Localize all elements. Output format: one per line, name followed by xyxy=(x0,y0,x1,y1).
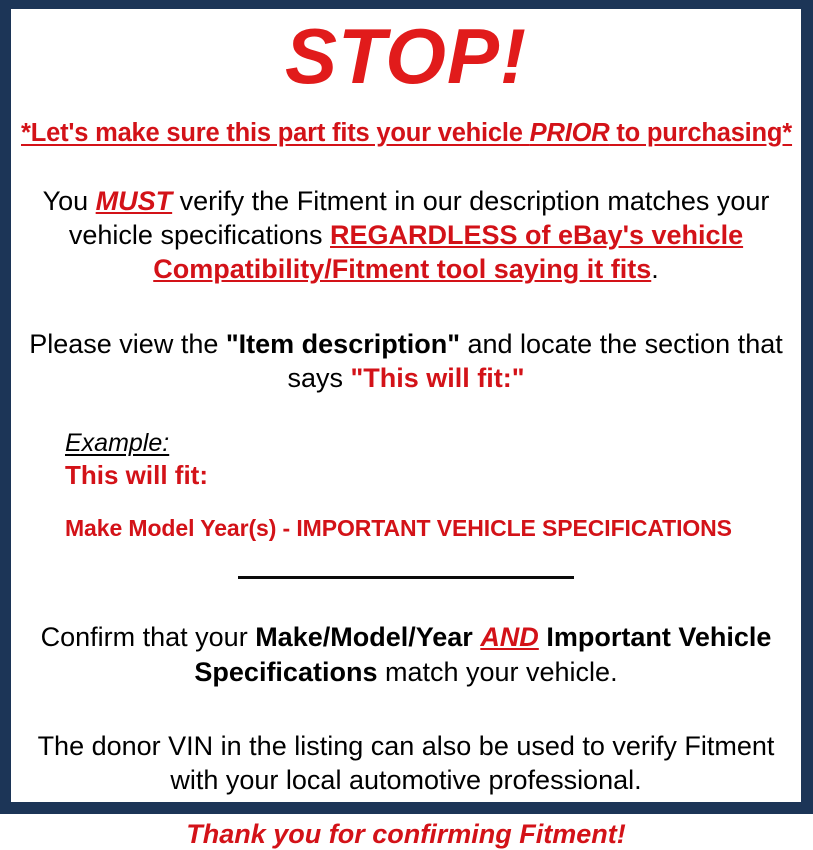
verify-part-1: You xyxy=(43,186,96,216)
view-emphasis-item-description: "Item description" xyxy=(226,329,460,359)
vin-paragraph: The donor VIN in the listing can also be… xyxy=(21,729,791,798)
confirm-emphasis-make-model-year: Make/Model/Year xyxy=(255,622,473,652)
example-label: Example: xyxy=(65,429,169,458)
confirm-emphasis-and: AND xyxy=(480,622,539,652)
example-fit-header: This will fit: xyxy=(65,460,791,491)
subheadline-emphasis-prior: PRIOR xyxy=(530,119,610,147)
confirm-part-1: Confirm that your xyxy=(41,622,256,652)
view-paragraph: Please view the "Item description" and l… xyxy=(21,327,791,396)
horizontal-rule-icon xyxy=(238,576,574,579)
subheadline-part-1: *Let's make sure this part fits your veh… xyxy=(21,119,530,147)
confirm-paragraph: Confirm that your Make/Model/Year AND Im… xyxy=(21,620,791,689)
thank-you-line: Thank you for confirming Fitment! xyxy=(21,819,791,850)
fitment-notice-card: STOP! *Let's make sure this part fits yo… xyxy=(0,0,813,814)
view-emphasis-this-will-fit: "This will fit:" xyxy=(350,363,524,393)
subheadline: *Let's make sure this part fits your veh… xyxy=(21,119,791,148)
subheadline-part-2: to purchasing* xyxy=(609,119,792,147)
confirm-part-4: match your vehicle. xyxy=(377,657,617,687)
verify-part-3: . xyxy=(651,254,659,284)
example-spec-line: Make Model Year(s) - IMPORTANT VEHICLE S… xyxy=(65,515,791,542)
page-title: STOP! xyxy=(21,9,791,97)
example-label-row: Example: xyxy=(65,429,791,458)
example-block: Example: This will fit: Make Model Year(… xyxy=(21,429,791,542)
verify-paragraph: You MUST verify the Fitment in our descr… xyxy=(21,184,791,287)
notice-content: STOP! *Let's make sure this part fits yo… xyxy=(11,9,801,802)
divider-container xyxy=(21,568,791,586)
view-part-1: Please view the xyxy=(29,329,226,359)
verify-emphasis-must: MUST xyxy=(96,186,173,216)
